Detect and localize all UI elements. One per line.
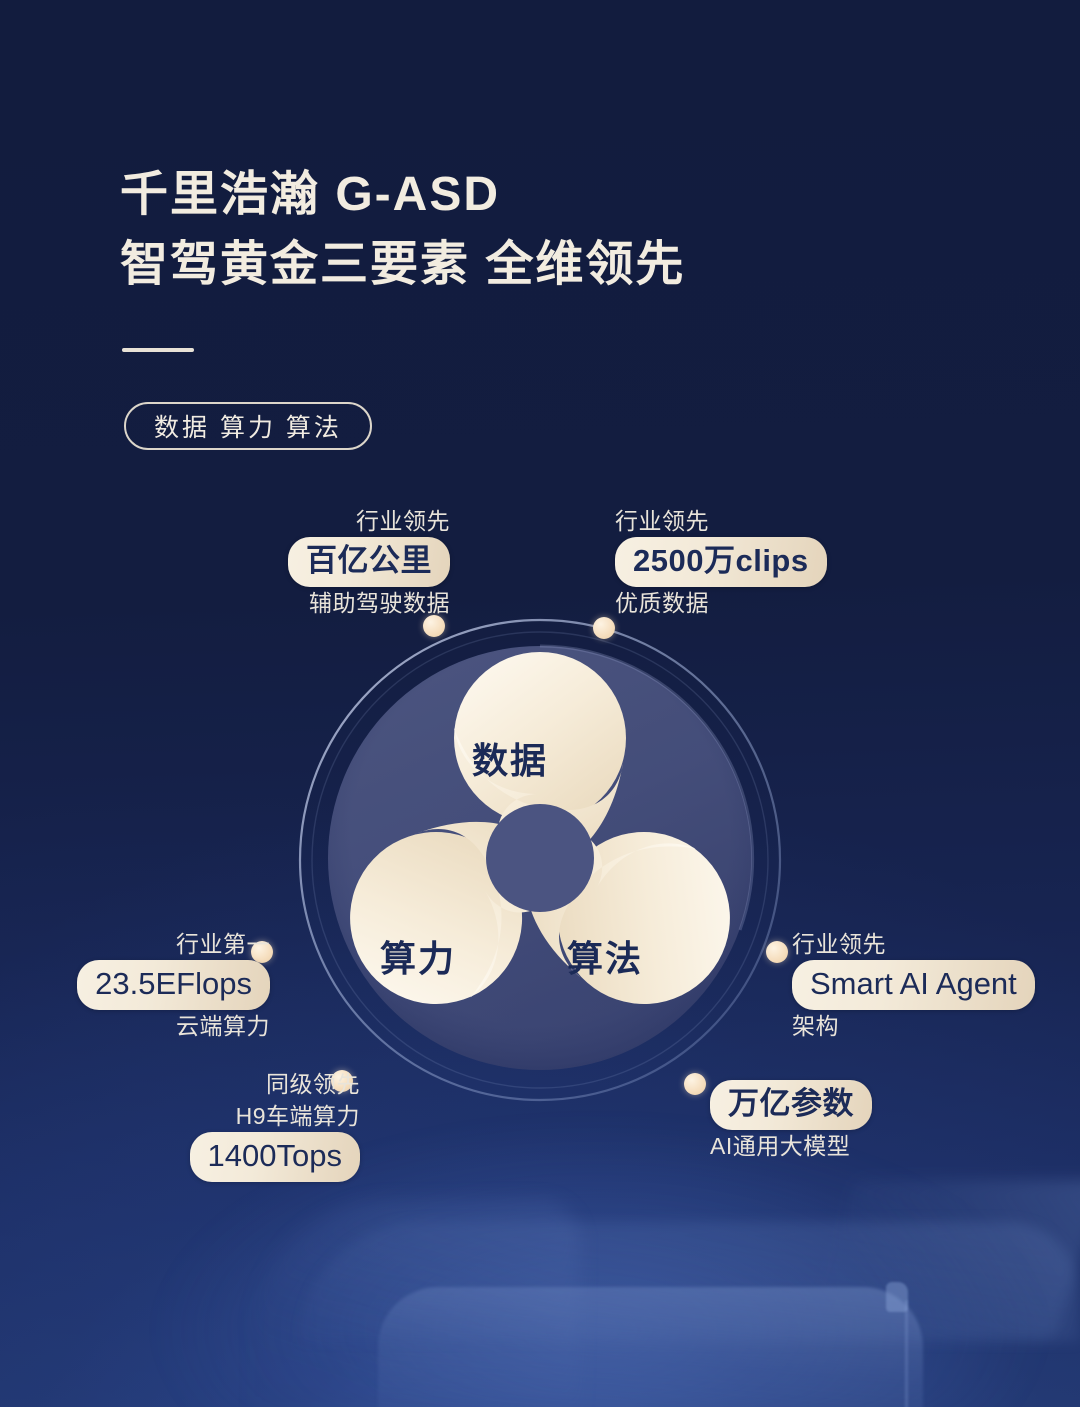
- headline-divider-rule: [122, 348, 194, 352]
- callout-vehicle-rank: 同级领先: [100, 1068, 360, 1100]
- keywords-pill: 数据 算力 算法: [124, 402, 372, 450]
- callout-clips-desc: 优质数据: [615, 587, 935, 619]
- vehicle-pillar: [804, 1180, 1080, 1340]
- lobe-label-power: 算力: [348, 930, 488, 982]
- headline-line-1: 千里浩瀚 G-ASD: [120, 160, 980, 230]
- trefoil-diagram: 数据 算力 算法: [240, 600, 840, 1120]
- vehicle-roofline: [300, 1222, 1080, 1342]
- lobe-label-algorithm: 算法: [535, 930, 675, 982]
- triskelion-graphic: [240, 600, 840, 1120]
- callout-mileage-value: 百亿公里: [288, 537, 450, 587]
- vehicle-hood: [250, 1200, 580, 1407]
- callout-agent: 行业领先 Smart AI Agent 架构: [792, 928, 1072, 1042]
- callout-clips-rank: 行业领先: [615, 505, 935, 537]
- infographic-canvas: 千里浩瀚 G-ASD 智驾黄金三要素 全维领先 数据 算力 算法: [0, 0, 1080, 1407]
- callout-agent-value: Smart AI Agent: [792, 960, 1035, 1010]
- callout-cloud-compute: 行业第一 23.5EFlops 云端算力: [20, 928, 270, 1042]
- callout-vehicle-value: 1400Tops: [190, 1132, 360, 1182]
- vehicle-seam: [905, 1300, 908, 1407]
- orbit-dot-clips: [593, 617, 615, 639]
- callout-agent-rank: 行业领先: [792, 928, 1072, 960]
- callout-clips-value: 2500万clips: [615, 537, 827, 587]
- vehicle-body: [378, 1287, 923, 1407]
- callout-mileage: 行业领先 百亿公里 辅助驾驶数据: [200, 505, 450, 619]
- orbit-dot-params: [684, 1073, 706, 1095]
- callout-params-desc: AI通用大模型: [710, 1130, 990, 1162]
- callout-cloud-value: 23.5EFlops: [77, 960, 270, 1010]
- headline-block: 千里浩瀚 G-ASD 智驾黄金三要素 全维领先: [120, 160, 980, 300]
- callout-cloud-desc: 云端算力: [20, 1010, 270, 1042]
- callout-clips: 行业领先 2500万clips 优质数据: [615, 505, 935, 619]
- vehicle-mirror: [886, 1282, 908, 1312]
- callout-params-value: 万亿参数: [710, 1080, 872, 1130]
- orbit-dot-agent: [766, 941, 788, 963]
- callout-parameters: 万亿参数 AI通用大模型: [710, 1080, 990, 1162]
- callout-vehicle-compute: 同级领先 H9车端算力 1400Tops: [100, 1068, 360, 1182]
- callout-cloud-rank: 行业第一: [20, 928, 270, 960]
- callout-mileage-desc: 辅助驾驶数据: [200, 587, 450, 619]
- callout-vehicle-desc: H9车端算力: [100, 1100, 360, 1132]
- lobe-label-data: 数据: [440, 732, 580, 784]
- callout-mileage-rank: 行业领先: [200, 505, 450, 537]
- headline-line-2: 智驾黄金三要素 全维领先: [120, 230, 980, 300]
- triskelion-hub: [486, 804, 594, 912]
- callout-agent-desc: 架构: [792, 1010, 1072, 1042]
